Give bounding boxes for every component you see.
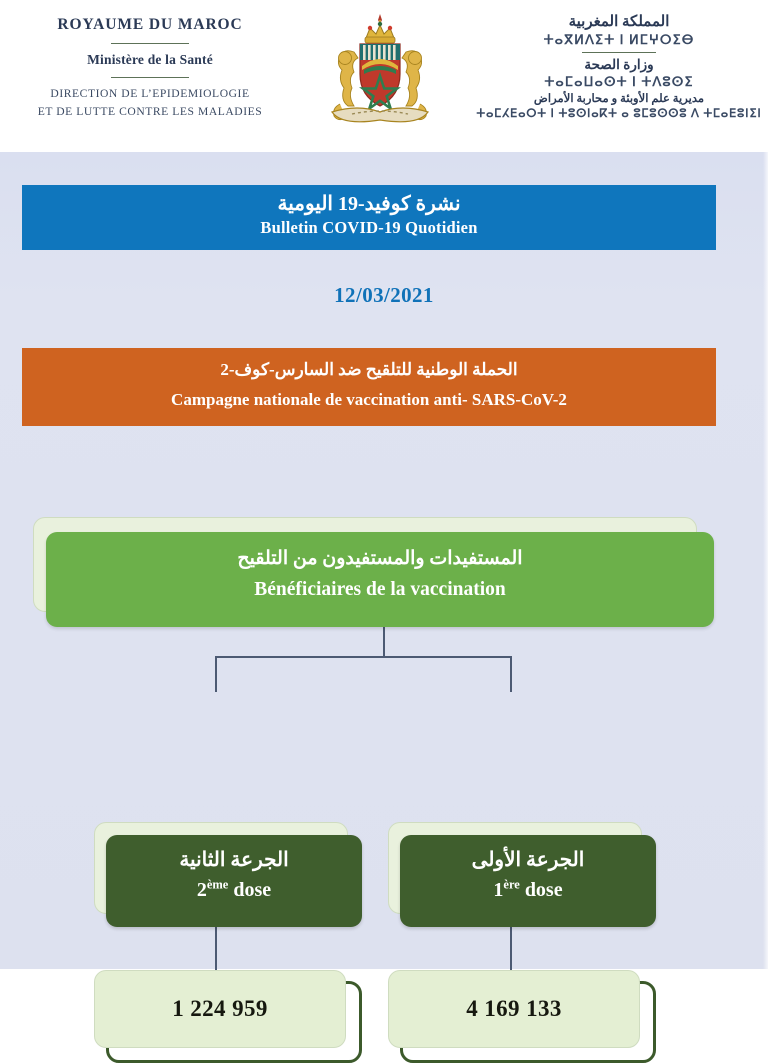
morocco-coat-of-arms-icon <box>318 8 442 140</box>
dose2-value: 1 224 959 <box>94 970 346 1048</box>
header-right-block: المملكة المغربية ⵜⴰⴳⵍⴷⵉⵜ ⵏ ⵍⵎⵖⵔⵉⴱ وزارة … <box>474 12 764 123</box>
dose2-node[interactable]: الجرعة الثانية 2ème dose <box>106 835 362 927</box>
dose1-node[interactable]: الجرعة الأولى 1ère dose <box>400 835 656 927</box>
connector-branch-left <box>215 656 217 692</box>
dose2-label-fr: 2ème dose <box>106 876 362 904</box>
ministry-title-ar: وزارة الصحة <box>474 56 764 74</box>
kingdom-title-ar: المملكة المغربية <box>474 12 764 32</box>
document-header: ROYAUME DU MAROC Ministère de la Santé D… <box>0 0 768 152</box>
header-left-block: ROYAUME DU MAROC Ministère de la Santé D… <box>0 16 300 120</box>
kingdom-title-fr: ROYAUME DU MAROC <box>0 16 300 34</box>
header-divider-right <box>582 52 656 53</box>
dose2-ordinal-suffix: ème <box>207 877 229 891</box>
dose1-ordinal-suffix: ère <box>503 877 519 891</box>
dose1-label-fr: 1ère dose <box>400 876 656 904</box>
dose1-number: 1 <box>493 879 503 901</box>
header-divider-bottom <box>111 77 189 78</box>
directorate-title-ar: مديرية علم الأوبئة و محاربة الأمراض <box>474 91 764 107</box>
bulletin-body: نشرة كوفيد-19 اليومية Bulletin COVID-19 … <box>0 152 768 969</box>
root-node-label-fr: Bénéficiaires de la vaccination <box>46 576 714 604</box>
root-node-label-ar: المستفيدات والمستفيدون من التلقيح <box>46 545 714 573</box>
dose2-word: dose <box>228 879 271 901</box>
kingdom-title-tifinagh: ⵜⴰⴳⵍⴷⵉⵜ ⵏ ⵍⵎⵖⵔⵉⴱ <box>474 32 764 49</box>
ministry-title-tifinagh: ⵜⴰⵎⴰⵡⴰⵙⵜ ⵏ ⵜⴷⵓⵙⵉ <box>474 74 764 91</box>
ministry-title-fr: Ministère de la Santé <box>0 52 300 68</box>
directorate-title-fr-line1: DIRECTION DE L’EPIDEMIOLOGIE <box>0 86 300 102</box>
root-node-beneficiaries[interactable]: المستفيدات والمستفيدون من التلقيح Bénéfi… <box>46 532 714 627</box>
dose1-label-ar: الجرعة الأولى <box>400 847 656 874</box>
connector-root-vertical <box>383 627 385 657</box>
connector-dose1-to-value <box>510 927 512 975</box>
dose1-word: dose <box>520 879 563 901</box>
dose1-value: 4 169 133 <box>388 970 640 1048</box>
connector-horizontal-bar <box>215 656 511 658</box>
header-divider-top <box>111 43 189 44</box>
connector-dose2-to-value <box>215 927 217 975</box>
dose2-number: 2 <box>197 879 207 901</box>
vaccination-diagram: المستفيدات والمستفيدون من التلقيح Bénéfi… <box>0 152 768 969</box>
directorate-title-fr-line2: ET DE LUTTE CONTRE LES MALADIES <box>0 104 300 120</box>
dose2-label-ar: الجرعة الثانية <box>106 847 362 874</box>
directorate-title-tifinagh: ⵜⴰⵎⵃⴹⴰⵔⵜ ⵏ ⵜⵓⵙⵏⴰⴽⵜ ⴰ ⵓⵎⵓⵙⵙⵓ ⴷ ⵜⵎⴰⴹⵓⵏⵉⵏ <box>474 107 764 122</box>
connector-branch-right <box>510 656 512 692</box>
